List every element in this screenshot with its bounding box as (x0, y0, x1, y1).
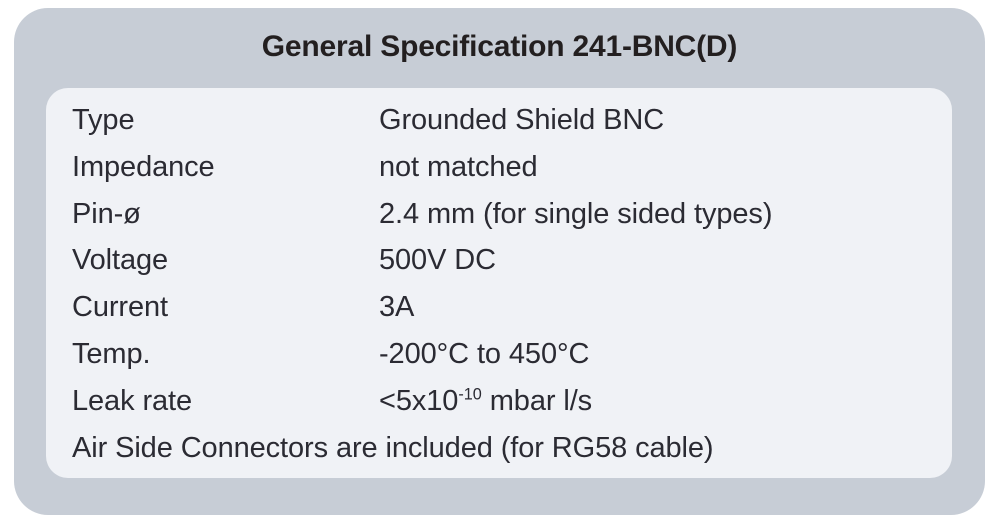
table-row: Leak rate<5x10-10 mbar l/s (72, 378, 942, 425)
specification-panel: TypeGrounded Shield BNC Impedancenot mat… (46, 88, 952, 478)
row-value-voltage: 500V DC (379, 237, 496, 284)
row-label-pin-diameter: Pin-ø (72, 191, 379, 238)
included-accessories-note: Air Side Connectors are included (for RG… (72, 425, 942, 472)
table-row: Temp.-200°C to 450°C (72, 331, 942, 378)
leak-rate-suffix: mbar l/s (482, 385, 592, 417)
table-row: TypeGrounded Shield BNC (72, 97, 942, 144)
specification-card: General Specification 241-BNC(D) TypeGro… (14, 8, 985, 515)
row-value-current: 3A (379, 284, 414, 331)
table-row: Current3A (72, 284, 942, 331)
row-label-current: Current (72, 284, 379, 331)
row-label-temperature: Temp. (72, 331, 379, 378)
table-row: Pin-ø2.4 mm (for single sided types) (72, 191, 942, 238)
row-value-type: Grounded Shield BNC (379, 97, 664, 144)
row-label-impedance: Impedance (72, 144, 379, 191)
row-label-voltage: Voltage (72, 237, 379, 284)
row-label-leak-rate: Leak rate (72, 378, 379, 425)
table-row: Impedancenot matched (72, 144, 942, 191)
leak-rate-prefix: <5x10 (379, 385, 458, 417)
table-row: Voltage500V DC (72, 237, 942, 284)
page-title: General Specification 241-BNC(D) (14, 30, 985, 64)
leak-rate-exponent: -10 (458, 385, 481, 403)
row-value-leak-rate: <5x10-10 mbar l/s (379, 378, 592, 425)
row-value-pin-diameter: 2.4 mm (for single sided types) (379, 191, 772, 238)
row-value-impedance: not matched (379, 144, 538, 191)
row-label-type: Type (72, 97, 379, 144)
row-value-temperature: -200°C to 450°C (379, 331, 589, 378)
specification-table: TypeGrounded Shield BNC Impedancenot mat… (72, 97, 942, 471)
